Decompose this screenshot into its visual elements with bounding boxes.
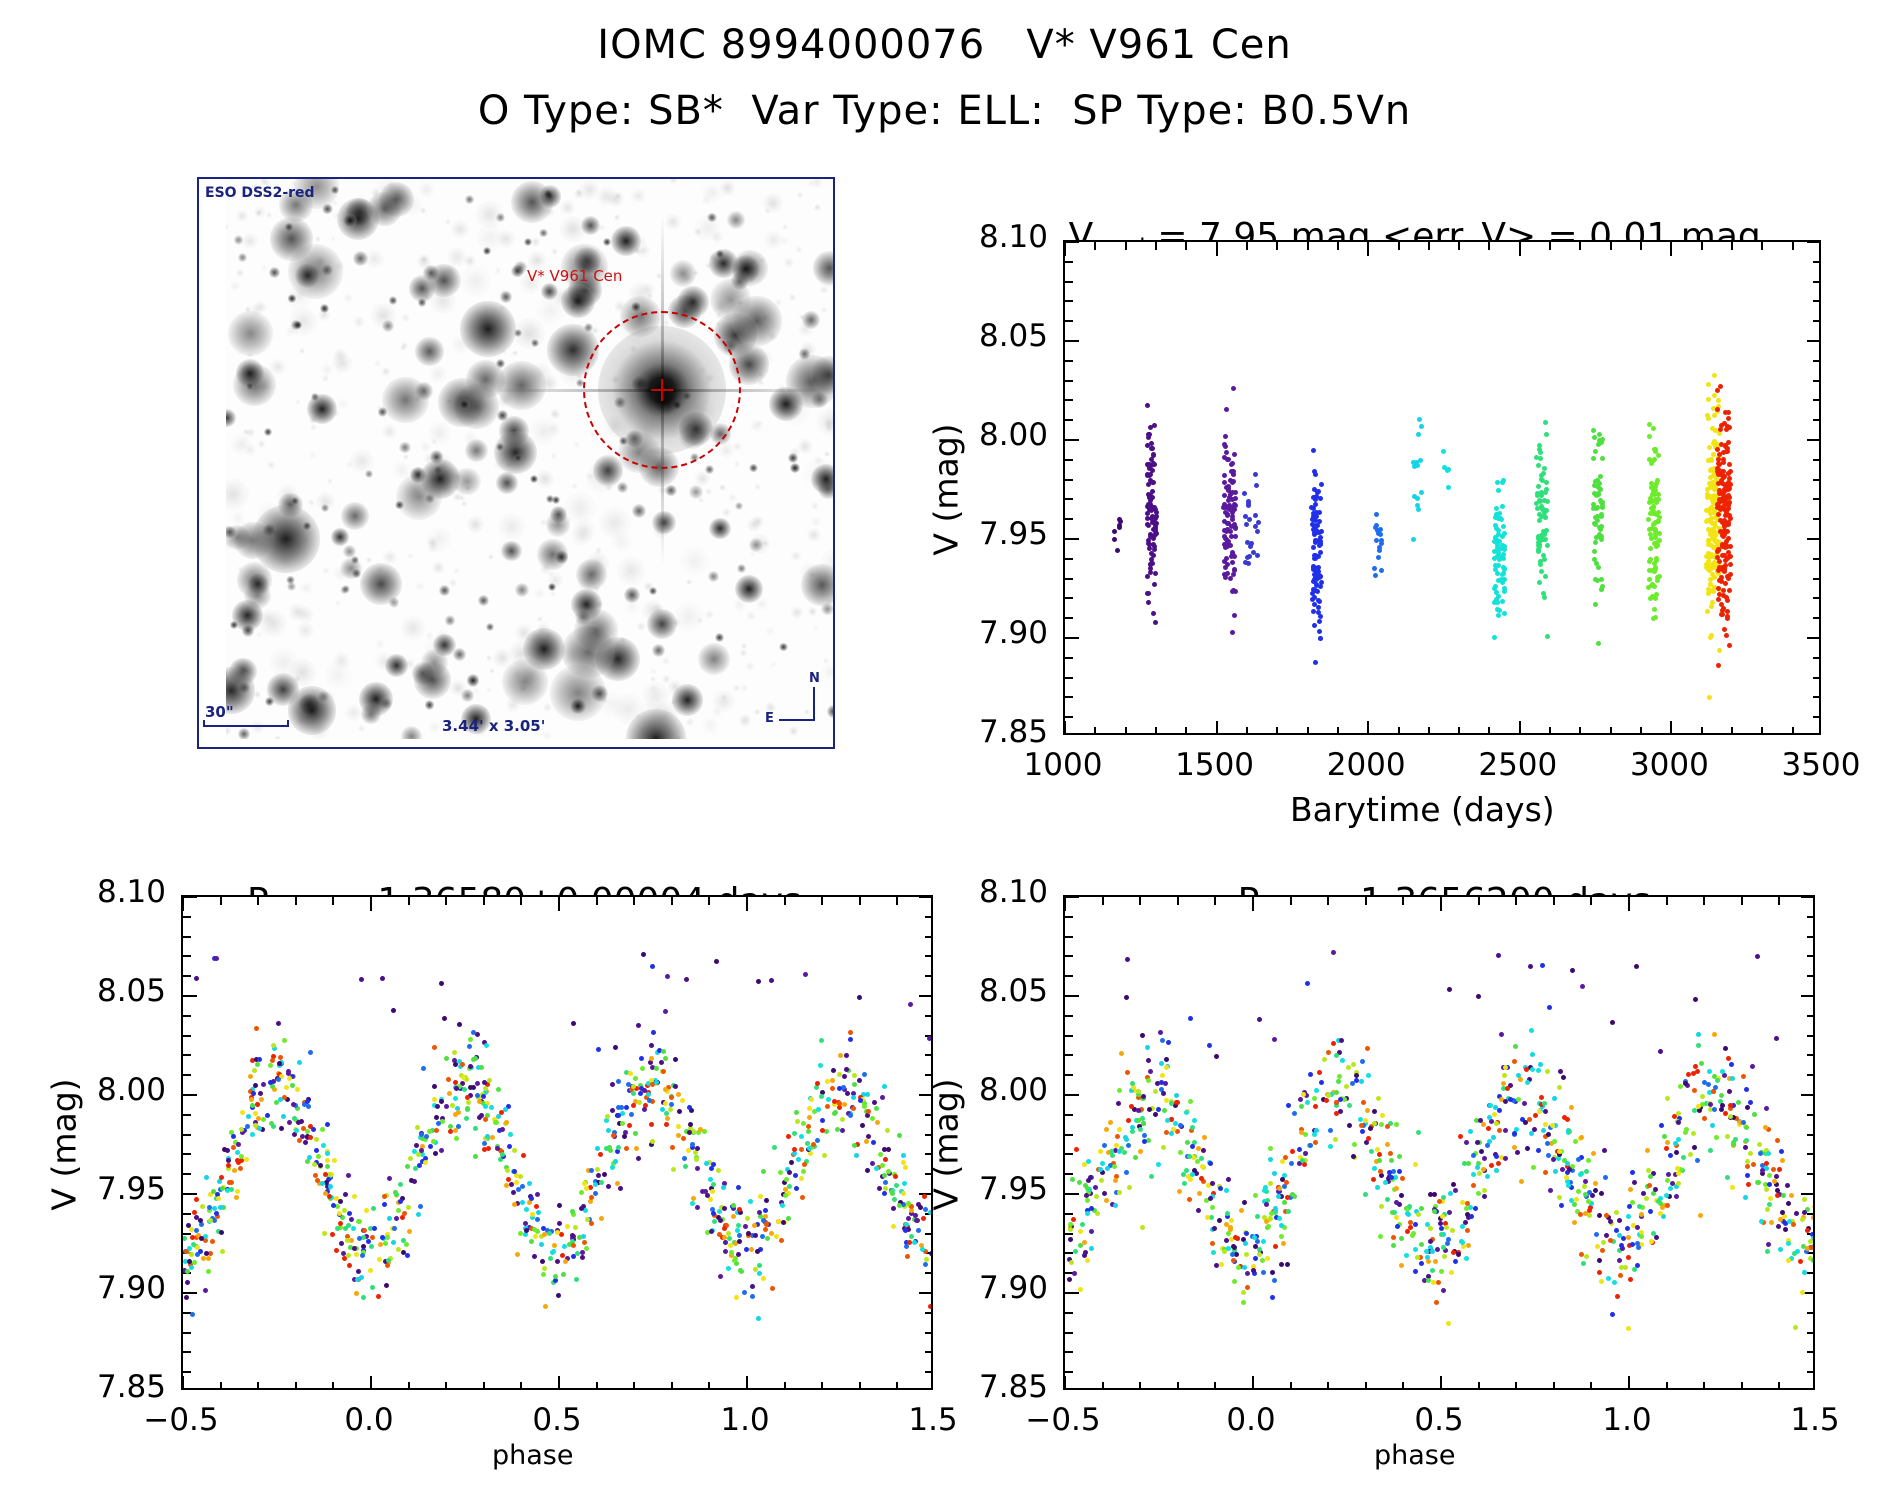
- background-noise: [488, 554, 494, 560]
- data-point: [854, 1153, 859, 1158]
- data-point: [1082, 1240, 1087, 1245]
- data-point: [1405, 1211, 1410, 1216]
- data-point: [1316, 610, 1321, 615]
- data-point: [1582, 1184, 1587, 1189]
- data-point: [1233, 496, 1238, 501]
- data-point: [1099, 1178, 1104, 1183]
- data-point: [512, 1202, 517, 1207]
- data-point: [1322, 1057, 1327, 1062]
- background-noise: [617, 557, 645, 585]
- data-point: [1746, 1182, 1751, 1187]
- data-point: [408, 1156, 413, 1161]
- axis-tick: [671, 897, 673, 905]
- data-point: [337, 1211, 342, 1216]
- background-noise: [574, 189, 584, 199]
- data-point: [1655, 543, 1660, 548]
- data-point: [1153, 1112, 1158, 1117]
- data-point: [1225, 521, 1230, 526]
- axis-tick: [1065, 340, 1079, 342]
- data-point: [1587, 1213, 1592, 1218]
- axis-tick: [1778, 1382, 1780, 1390]
- data-point: [1122, 1150, 1127, 1155]
- data-point: [1428, 1239, 1433, 1244]
- data-point: [824, 1129, 829, 1134]
- data-point: [1078, 1229, 1083, 1234]
- data-point: [787, 1170, 792, 1175]
- data-point: [1145, 516, 1150, 521]
- data-point: [1725, 616, 1730, 621]
- axis-tick: [1515, 1382, 1517, 1390]
- data-point: [1432, 1192, 1437, 1197]
- data-point: [320, 1181, 325, 1186]
- background-noise: [728, 493, 737, 502]
- data-point: [1125, 1070, 1130, 1075]
- background-noise: [640, 282, 655, 297]
- data-point: [1302, 1162, 1307, 1167]
- data-point: [833, 1110, 838, 1115]
- data-point: [366, 1239, 371, 1244]
- data-point: [1612, 1280, 1617, 1285]
- data-point: [1602, 1148, 1607, 1153]
- data-point: [830, 1086, 835, 1091]
- field-star: [331, 528, 349, 546]
- axis-tick: [332, 897, 334, 905]
- data-point: [885, 1128, 890, 1133]
- field-star: [414, 661, 452, 699]
- data-point: [504, 1183, 509, 1188]
- data-point: [1142, 1139, 1147, 1144]
- field-star: [234, 235, 244, 245]
- data-point: [1698, 1213, 1703, 1218]
- data-point: [1160, 1073, 1165, 1078]
- data-point: [1785, 1183, 1790, 1188]
- data-point: [1529, 1131, 1534, 1136]
- data-point: [557, 1203, 562, 1208]
- data-point: [254, 1026, 259, 1031]
- data-point: [1655, 578, 1660, 583]
- data-point: [1312, 623, 1317, 628]
- field-star: [401, 726, 422, 739]
- field-star: [649, 587, 657, 595]
- data-point: [634, 1146, 639, 1151]
- data-point: [1303, 1151, 1308, 1156]
- axis-tick: [1065, 637, 1079, 639]
- data-point: [360, 1253, 365, 1258]
- data-point: [1525, 1080, 1530, 1085]
- data-point: [1653, 615, 1658, 620]
- data-point: [471, 1030, 476, 1035]
- data-point: [786, 1134, 791, 1139]
- data-point: [338, 1221, 343, 1226]
- data-point: [346, 1253, 351, 1258]
- data-point: [543, 1304, 548, 1309]
- field-star: [575, 609, 591, 625]
- axis-tick: [1801, 1193, 1815, 1195]
- bright-field-star: [420, 459, 460, 499]
- data-point: [489, 1105, 494, 1110]
- data-point: [1744, 1138, 1749, 1143]
- field-star: [624, 587, 640, 603]
- data-point: [1394, 1200, 1399, 1205]
- data-point: [1270, 1270, 1275, 1275]
- data-point: [1199, 1156, 1204, 1161]
- data-point: [461, 1075, 466, 1080]
- data-point: [1683, 1130, 1688, 1135]
- background-noise: [344, 293, 353, 302]
- data-point: [825, 1104, 830, 1109]
- data-point: [477, 1099, 482, 1104]
- data-point: [1745, 1173, 1750, 1178]
- data-point: [909, 1208, 914, 1213]
- field-star: [496, 213, 505, 222]
- data-point: [1458, 1134, 1463, 1139]
- data-point: [1089, 1246, 1094, 1251]
- data-point: [883, 1186, 888, 1191]
- data-point: [1230, 630, 1235, 635]
- data-point: [475, 1093, 480, 1098]
- axis-tick: [1807, 538, 1821, 540]
- axis-tick: [183, 995, 197, 997]
- axis-tick: [183, 1292, 197, 1294]
- axis-tick: [633, 1382, 635, 1390]
- field-star: [236, 359, 264, 387]
- axis-tick: [1327, 1382, 1329, 1390]
- data-point: [1094, 1194, 1099, 1199]
- data-point: [610, 1082, 615, 1087]
- field-star: [732, 296, 781, 345]
- data-point: [1380, 1113, 1385, 1118]
- data-point: [624, 1146, 629, 1151]
- data-point: [1576, 1157, 1581, 1162]
- data-point: [512, 1148, 517, 1153]
- data-point: [1465, 1228, 1470, 1233]
- data-point: [1599, 1279, 1604, 1284]
- data-point: [524, 1207, 529, 1212]
- data-point: [1769, 1220, 1774, 1225]
- data-point: [1430, 1268, 1435, 1273]
- data-point: [508, 1132, 513, 1137]
- data-point: [1759, 1219, 1764, 1224]
- axis-tick-label: 1.0: [685, 1402, 805, 1438]
- data-point: [1082, 1162, 1087, 1167]
- data-point: [485, 1134, 490, 1139]
- field-star: [632, 504, 646, 518]
- background-noise: [256, 632, 262, 638]
- data-point: [1317, 510, 1322, 515]
- data-point: [570, 1209, 575, 1214]
- data-point: [822, 1153, 827, 1158]
- data-point: [872, 1100, 877, 1105]
- data-point: [1566, 1183, 1571, 1188]
- data-point: [596, 1047, 601, 1052]
- data-point: [1292, 1111, 1297, 1116]
- data-point: [1536, 1068, 1541, 1073]
- data-point: [320, 1127, 325, 1132]
- data-point: [384, 1283, 389, 1288]
- data-point: [1659, 1123, 1664, 1128]
- data-point: [1493, 523, 1498, 528]
- data-point: [465, 1095, 470, 1100]
- data-point: [1576, 1189, 1581, 1194]
- data-point: [646, 1092, 651, 1097]
- data-point: [1181, 1172, 1186, 1177]
- data-point: [1160, 1038, 1165, 1043]
- data-point: [1530, 1052, 1535, 1057]
- field-star: [467, 674, 479, 686]
- data-point: [500, 1127, 505, 1132]
- background-noise: [498, 513, 525, 540]
- data-point: [1218, 1186, 1223, 1191]
- data-point: [1750, 1064, 1755, 1069]
- data-point: [234, 1195, 239, 1200]
- data-point: [1652, 511, 1657, 516]
- data-point: [726, 1231, 731, 1236]
- data-point: [1276, 1194, 1281, 1199]
- data-point: [1102, 1143, 1107, 1148]
- data-point: [1503, 1156, 1508, 1161]
- data-point: [1208, 1196, 1213, 1201]
- data-point: [561, 1272, 566, 1277]
- data-point: [1253, 1193, 1258, 1198]
- compass-east-line: [779, 719, 815, 721]
- data-point: [248, 1074, 253, 1079]
- data-point: [1428, 1226, 1433, 1231]
- background-noise: [255, 210, 261, 216]
- data-point: [606, 1184, 611, 1189]
- data-point: [1230, 514, 1235, 519]
- data-point: [1311, 545, 1316, 550]
- data-point: [726, 1266, 731, 1271]
- data-point: [1399, 1236, 1404, 1241]
- data-point: [1354, 1078, 1359, 1083]
- data-point: [1161, 1145, 1166, 1150]
- data-point: [1485, 1174, 1490, 1179]
- field-star: [546, 495, 554, 503]
- axis-tick: [1519, 721, 1521, 735]
- data-point: [1647, 1183, 1652, 1188]
- data-point: [1391, 1235, 1396, 1240]
- axis-tick: [183, 1035, 191, 1037]
- axis-tick: [596, 897, 598, 905]
- data-point: [507, 1144, 512, 1149]
- data-point: [378, 1242, 383, 1247]
- data-point: [695, 1205, 700, 1210]
- data-point: [1664, 1146, 1669, 1151]
- data-point: [908, 1002, 913, 1007]
- axis-tick: [1741, 897, 1743, 905]
- data-point: [663, 1056, 668, 1061]
- data-point: [1486, 1126, 1491, 1131]
- axis-tick: [821, 897, 823, 905]
- data-point: [1760, 1168, 1765, 1173]
- data-point: [391, 1008, 396, 1013]
- field-star: [715, 633, 724, 642]
- data-point: [1547, 1005, 1552, 1010]
- data-point: [835, 1127, 840, 1132]
- data-point: [195, 1252, 200, 1257]
- data-point: [1648, 546, 1653, 551]
- field-star: [705, 465, 714, 474]
- data-point: [468, 1085, 473, 1090]
- data-point: [1290, 1149, 1295, 1154]
- data-point: [1569, 1105, 1574, 1110]
- axis-tick-label: 8.10: [918, 874, 1048, 910]
- data-point: [1658, 1211, 1663, 1216]
- axis-tick: [1813, 459, 1821, 461]
- data-point: [345, 1238, 350, 1243]
- data-point: [1636, 1245, 1641, 1250]
- data-point: [1599, 587, 1604, 592]
- data-point: [862, 1072, 867, 1077]
- background-noise: [427, 527, 451, 551]
- omc-variable-star-summary-page: IOMC 8994000076 V* V961 Cen O Type: SB* …: [0, 0, 1889, 1494]
- data-point: [1651, 426, 1656, 431]
- data-point: [1110, 1153, 1115, 1158]
- data-point: [1328, 1144, 1333, 1149]
- data-point: [755, 1249, 760, 1254]
- data-point: [1192, 1118, 1197, 1123]
- data-point: [1272, 1171, 1277, 1176]
- axis-tick: [220, 897, 222, 905]
- field-star: [707, 213, 716, 222]
- data-point: [1647, 422, 1652, 427]
- data-point: [1508, 1097, 1513, 1102]
- field-star: [811, 391, 828, 408]
- data-point: [1722, 553, 1727, 558]
- axis-tick: [558, 897, 560, 911]
- data-point: [239, 1127, 244, 1132]
- data-point: [1670, 1181, 1675, 1186]
- data-point: [1578, 1212, 1583, 1217]
- background-noise: [461, 266, 492, 297]
- data-point: [921, 1216, 926, 1221]
- data-point: [1145, 472, 1150, 477]
- data-point: [301, 1126, 306, 1131]
- phase-vsx-plot-area: [1063, 895, 1815, 1390]
- axis-tick: [558, 1376, 560, 1390]
- data-point: [1133, 1155, 1138, 1160]
- field-star: [631, 302, 641, 312]
- axis-tick: [183, 1015, 191, 1017]
- data-point: [318, 1163, 323, 1168]
- data-point: [1487, 1115, 1492, 1120]
- data-point: [1324, 1098, 1329, 1103]
- data-point: [1230, 480, 1235, 485]
- data-point: [1644, 1196, 1649, 1201]
- axis-tick-label: 8.00: [918, 1072, 1048, 1108]
- data-point: [1595, 1244, 1600, 1249]
- data-point: [1449, 1270, 1454, 1275]
- data-point: [1411, 537, 1416, 542]
- axis-tick: [332, 1382, 334, 1390]
- data-point: [1375, 1185, 1380, 1190]
- data-point: [799, 1134, 804, 1139]
- data-point: [1654, 1235, 1659, 1240]
- data-point: [271, 1043, 276, 1048]
- axis-tick: [1478, 1382, 1480, 1390]
- background-noise: [701, 196, 711, 206]
- data-point: [1391, 1243, 1396, 1248]
- data-point: [912, 1240, 917, 1245]
- data-point: [695, 1146, 700, 1151]
- axis-tick: [1307, 242, 1309, 250]
- background-noise: [573, 518, 596, 541]
- axis-tick: [1807, 1015, 1815, 1017]
- data-point: [1164, 1057, 1169, 1062]
- data-point: [1628, 1187, 1633, 1192]
- data-point: [1500, 480, 1505, 485]
- data-point: [894, 1183, 899, 1188]
- axis-tick: [1731, 242, 1733, 250]
- data-point: [642, 1088, 647, 1093]
- data-point: [1424, 1249, 1429, 1254]
- field-star: [709, 518, 730, 539]
- field-star: [425, 700, 434, 709]
- data-point: [1501, 1081, 1506, 1086]
- data-point: [1226, 1231, 1231, 1236]
- field-star: [238, 728, 250, 739]
- data-point: [1653, 565, 1658, 570]
- data-point: [306, 1104, 311, 1109]
- data-point: [1707, 445, 1712, 450]
- data-point: [206, 1269, 211, 1274]
- data-point: [1161, 1091, 1166, 1096]
- data-point: [259, 1097, 264, 1102]
- data-point: [1536, 463, 1541, 468]
- target-object-label: V* V961 Cen: [527, 267, 622, 285]
- data-point: [1696, 1043, 1701, 1048]
- axis-tick: [370, 1376, 372, 1390]
- axis-tick-label: 1500: [1155, 747, 1275, 783]
- data-point: [1313, 472, 1318, 477]
- data-point: [1124, 995, 1129, 1000]
- data-point: [1545, 634, 1550, 639]
- data-point: [1485, 1143, 1490, 1148]
- data-point: [372, 1226, 377, 1231]
- bright-field-star: [460, 301, 516, 357]
- data-point: [1095, 1211, 1100, 1216]
- data-point: [1224, 450, 1229, 455]
- background-noise: [702, 717, 719, 734]
- data-point: [1584, 1169, 1589, 1174]
- background-noise: [428, 721, 440, 733]
- data-point: [1435, 1247, 1440, 1252]
- data-point: [396, 1208, 401, 1213]
- data-point: [1445, 1241, 1450, 1246]
- data-point: [535, 1192, 540, 1197]
- data-point: [1441, 1288, 1446, 1293]
- data-point: [1069, 1260, 1074, 1265]
- data-point: [1593, 1188, 1598, 1193]
- axis-tick: [859, 1382, 861, 1390]
- data-point: [1489, 1163, 1494, 1168]
- data-point: [1344, 1084, 1349, 1089]
- data-point: [1389, 1158, 1394, 1163]
- data-point: [1328, 1128, 1333, 1133]
- data-point: [1522, 1101, 1527, 1106]
- data-point: [1651, 504, 1656, 509]
- data-point: [808, 1151, 813, 1156]
- data-point: [593, 1191, 598, 1196]
- data-point: [1464, 1256, 1469, 1261]
- axis-tick: [1761, 242, 1763, 250]
- data-point: [637, 1100, 642, 1105]
- data-point: [330, 1232, 335, 1237]
- data-point: [1441, 449, 1446, 454]
- background-noise: [353, 316, 365, 328]
- axis-tick-label: 1.5: [1755, 1402, 1875, 1438]
- data-point: [1496, 488, 1501, 493]
